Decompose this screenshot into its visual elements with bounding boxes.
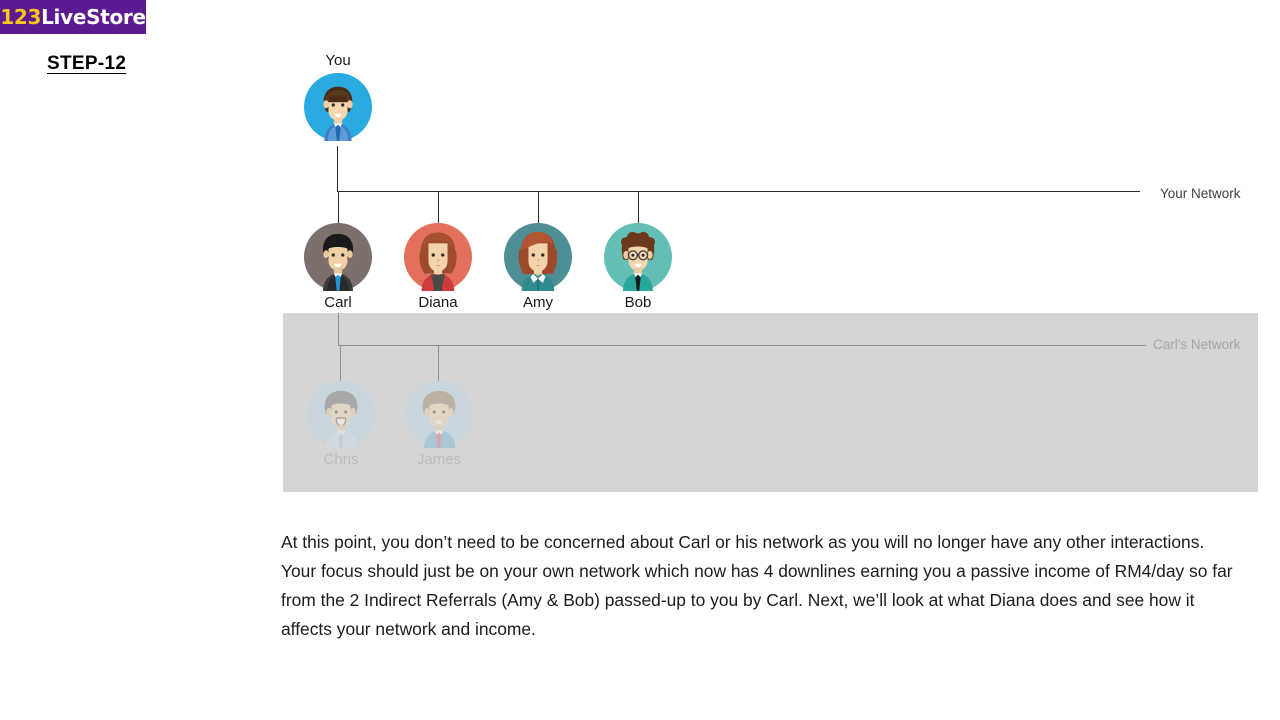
man-glasses-teal-avatar bbox=[604, 223, 672, 291]
man-dark-suit-avatar bbox=[304, 223, 372, 291]
connector-your-network-bus bbox=[337, 191, 1140, 192]
node-diana[interactable]: Diana bbox=[383, 223, 493, 312]
woman-red-jacket-avatar bbox=[404, 223, 472, 291]
node-chris-label: Chris bbox=[286, 452, 396, 469]
node-you-label: You bbox=[283, 53, 393, 70]
node-chris[interactable]: Chris bbox=[286, 380, 396, 469]
node-amy-avatar bbox=[504, 223, 572, 291]
node-amy-label: Amy bbox=[483, 295, 593, 312]
connector-drop-amy bbox=[538, 191, 539, 224]
carls-network-label: Carl's Network bbox=[1153, 337, 1240, 352]
node-you[interactable]: You bbox=[283, 53, 393, 141]
node-carl-label: Carl bbox=[283, 295, 393, 312]
node-diana-label: Diana bbox=[383, 295, 493, 312]
node-bob-avatar bbox=[604, 223, 672, 291]
network-diagram: Your Network Carl's Network You bbox=[0, 0, 1280, 500]
connector-drop-bob bbox=[638, 191, 639, 224]
man-pink-tie-avatar bbox=[405, 380, 473, 448]
connector-carl-down bbox=[338, 313, 339, 345]
node-carl[interactable]: Carl bbox=[283, 223, 393, 312]
node-james-label: James bbox=[384, 452, 494, 469]
connector-root-down bbox=[337, 146, 338, 191]
older-man-goatee-avatar bbox=[307, 380, 375, 448]
man-blue-suit-avatar bbox=[304, 73, 372, 141]
connector-drop-chris bbox=[340, 345, 341, 381]
explanation-paragraph: At this point, you don’t need to be conc… bbox=[281, 528, 1241, 644]
node-james-avatar bbox=[405, 380, 473, 448]
node-diana-avatar bbox=[404, 223, 472, 291]
node-chris-avatar bbox=[307, 380, 375, 448]
connector-drop-carl bbox=[338, 191, 339, 224]
node-you-avatar bbox=[304, 73, 372, 141]
connector-drop-james bbox=[438, 345, 439, 381]
connector-carls-network-bus bbox=[338, 345, 1146, 346]
node-carl-avatar bbox=[304, 223, 372, 291]
your-network-label: Your Network bbox=[1160, 186, 1241, 201]
node-bob-label: Bob bbox=[583, 295, 693, 312]
node-bob[interactable]: Bob bbox=[583, 223, 693, 312]
connector-drop-diana bbox=[438, 191, 439, 224]
node-james[interactable]: James bbox=[384, 380, 494, 469]
woman-teal-shirt-avatar bbox=[504, 223, 572, 291]
node-amy[interactable]: Amy bbox=[483, 223, 593, 312]
